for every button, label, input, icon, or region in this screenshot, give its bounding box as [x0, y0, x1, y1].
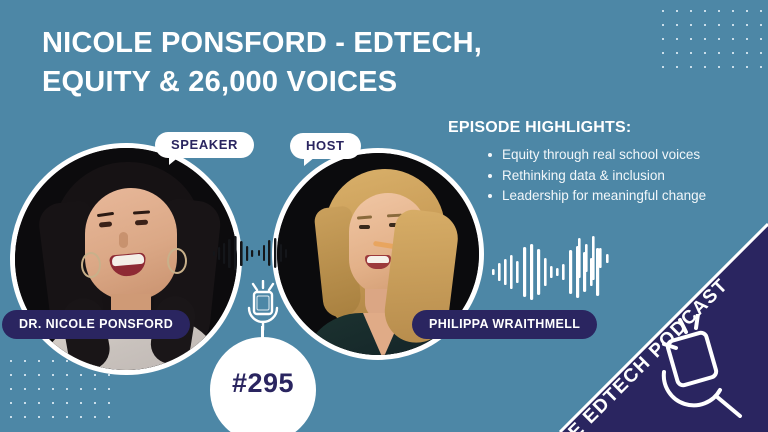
host-role-badge: HOST — [290, 133, 361, 159]
list-item: Equity through real school voices — [502, 145, 760, 166]
episode-highlights-heading: EPISODE HIGHLIGHTS: — [448, 119, 760, 137]
episode-number: #295 — [232, 368, 294, 399]
list-item: Leadership for meaningful change — [502, 186, 760, 207]
host-name-label: PHILIPPA WRAITHMELL — [412, 310, 597, 339]
dot-grid-pattern-top-right — [656, 4, 768, 72]
episode-highlights: EPISODE HIGHLIGHTS: Equity through real … — [448, 119, 760, 207]
episode-number-badge: #295 — [210, 337, 316, 432]
speaker-role-badge: SPEAKER — [155, 132, 254, 158]
list-item: Rethinking data & inclusion — [502, 166, 760, 187]
microphone-icon-brand — [658, 314, 750, 418]
speaker-photo — [10, 143, 242, 375]
episode-highlights-list: Equity through real school voices Rethin… — [448, 145, 760, 207]
page-title: NICOLE PONSFORD - EDTECH, EQUITY & 26,00… — [42, 24, 572, 101]
audio-waveform-icon-middle — [258, 238, 290, 268]
speaker-name-label: DR. NICOLE PONSFORD — [2, 310, 190, 339]
podcast-episode-graphic: NICOLE PONSFORD - EDTECH, EQUITY & 26,00… — [0, 0, 768, 432]
audio-waveform-icon-left — [213, 236, 257, 270]
microphone-icon-center — [242, 280, 284, 332]
audio-waveform-icon-right — [492, 244, 602, 300]
